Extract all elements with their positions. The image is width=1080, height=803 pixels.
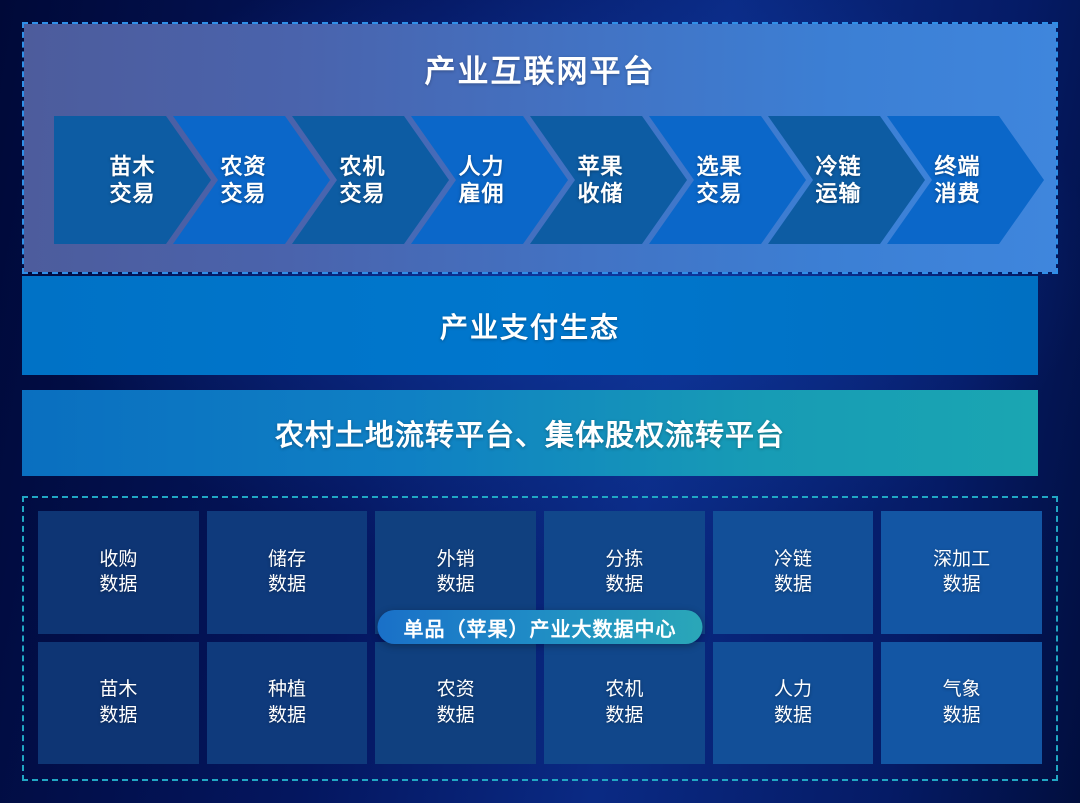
chevron-step-label: 农机 交易 xyxy=(339,153,385,208)
value-chain-chevron-row: 苗木 交易农资 交易农机 交易人力 雇佣苹果 收储选果 交易冷链 运输终端 消费 xyxy=(54,116,1044,244)
data-card[interactable]: 农机 数据 xyxy=(544,642,705,765)
data-card[interactable]: 深加工 数据 xyxy=(881,511,1042,634)
data-card[interactable]: 农资 数据 xyxy=(375,642,536,765)
industry-internet-platform-panel: 产业互联网平台 苗木 交易农资 交易农机 交易人力 雇佣苹果 收储选果 交易冷链… xyxy=(22,22,1058,274)
data-card-label: 深加工 数据 xyxy=(933,547,990,598)
chevron-step-label: 苗木 交易 xyxy=(109,153,155,208)
data-card-label: 冷链 数据 xyxy=(774,547,812,598)
data-card-label: 气象 数据 xyxy=(943,677,981,728)
data-card-label: 外销 数据 xyxy=(437,547,475,598)
data-card-label: 种植 数据 xyxy=(268,677,306,728)
page-title: 产业互联网平台 xyxy=(24,46,1056,91)
data-card-label: 人力 数据 xyxy=(774,677,812,728)
land-transfer-platform-label: 农村土地流转平台、集体股权流转平台 xyxy=(275,412,785,454)
data-card-label: 分拣 数据 xyxy=(605,547,643,598)
chevron-step-label: 苹果 收储 xyxy=(577,153,623,208)
data-card-label: 农资 数据 xyxy=(437,677,475,728)
data-card-label: 农机 数据 xyxy=(605,677,643,728)
land-transfer-platform-band: 农村土地流转平台、集体股权流转平台 xyxy=(22,390,1038,476)
data-card[interactable]: 苗木 数据 xyxy=(38,642,199,765)
payment-ecosystem-band: 产业支付生态 xyxy=(22,276,1038,375)
data-card[interactable]: 气象 数据 xyxy=(881,642,1042,765)
chevron-step-label: 终端 消费 xyxy=(934,153,980,208)
chevron-step-label: 人力 雇佣 xyxy=(458,153,504,208)
data-card-label: 储存 数据 xyxy=(268,547,306,598)
big-data-center-badge: 单品（苹果）产业大数据中心 xyxy=(378,610,703,644)
data-card-label: 收购 数据 xyxy=(99,547,137,598)
payment-ecosystem-label: 产业支付生态 xyxy=(440,306,620,346)
chevron-step-label: 冷链 运输 xyxy=(815,153,861,208)
data-card[interactable]: 储存 数据 xyxy=(207,511,368,634)
chevron-step-label: 选果 交易 xyxy=(696,153,742,208)
data-card-label: 苗木 数据 xyxy=(99,677,137,728)
data-card[interactable]: 种植 数据 xyxy=(207,642,368,765)
data-card[interactable]: 收购 数据 xyxy=(38,511,199,634)
data-card[interactable]: 人力 数据 xyxy=(713,642,874,765)
data-card[interactable]: 冷链 数据 xyxy=(713,511,874,634)
diagram-canvas: 产业互联网平台 苗木 交易农资 交易农机 交易人力 雇佣苹果 收储选果 交易冷链… xyxy=(0,0,1080,803)
chevron-step-label: 农资 交易 xyxy=(220,153,266,208)
